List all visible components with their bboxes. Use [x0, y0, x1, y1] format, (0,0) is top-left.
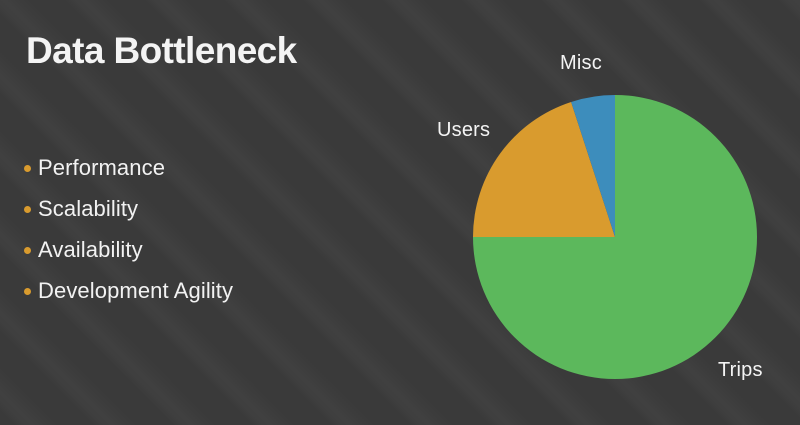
bullet-label: Development Agility	[38, 278, 233, 304]
slide-canvas: Data Bottleneck Performance Scalability …	[0, 0, 800, 425]
bullet-label: Availability	[38, 237, 143, 263]
pie-chart	[473, 95, 757, 379]
pie-label-misc: Misc	[560, 52, 602, 75]
list-item: Availability	[24, 229, 354, 270]
list-item: Development Agility	[24, 270, 354, 311]
pie-chart-svg	[473, 95, 757, 379]
bullet-dot-icon	[24, 288, 31, 295]
pie-label-users: Users	[437, 119, 490, 142]
bullet-label: Scalability	[38, 196, 138, 222]
page-title: Data Bottleneck	[26, 30, 297, 72]
pie-label-trips: Trips	[718, 359, 763, 382]
bullet-list: Performance Scalability Availability Dev…	[24, 147, 354, 311]
bullet-label: Performance	[38, 155, 165, 181]
bullet-dot-icon	[24, 165, 31, 172]
list-item: Scalability	[24, 188, 354, 229]
list-item: Performance	[24, 147, 354, 188]
bullet-dot-icon	[24, 206, 31, 213]
pie-slice-group	[473, 95, 757, 379]
bullet-dot-icon	[24, 247, 31, 254]
